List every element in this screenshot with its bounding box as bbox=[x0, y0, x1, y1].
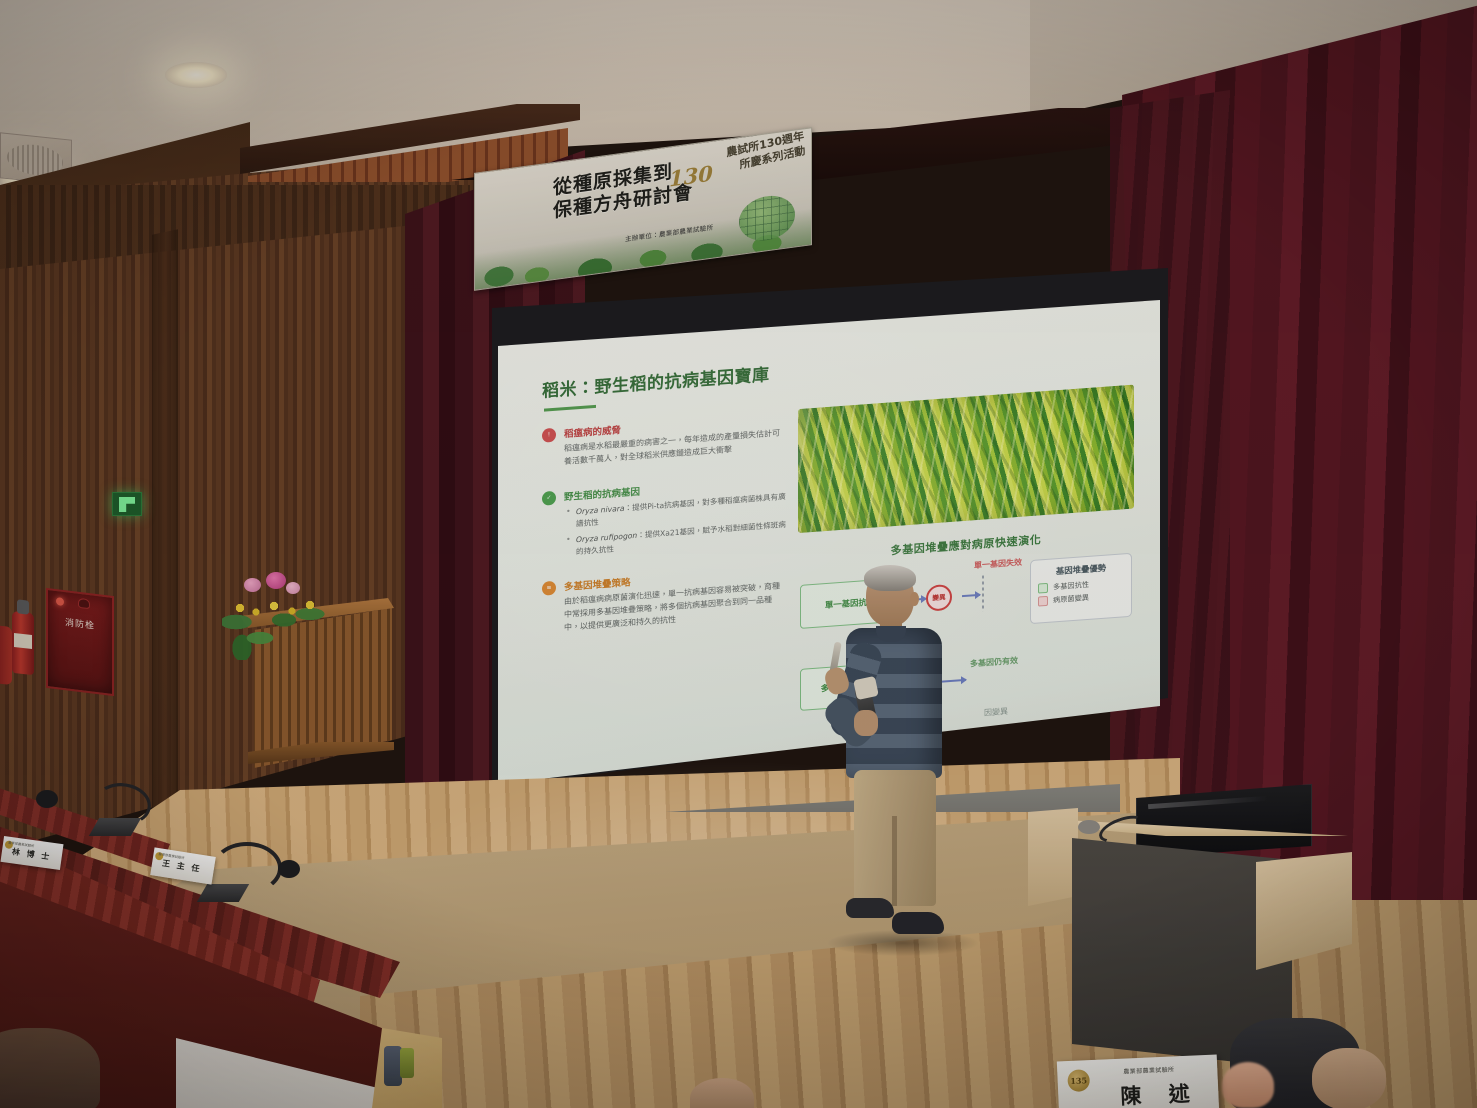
ceiling-downlight bbox=[165, 62, 227, 88]
microphone-capsule bbox=[278, 860, 300, 878]
slide-section-threat: ! 稻瘟病的威脅 稻瘟病是水稻最嚴重的病害之一，每年造成的產量損失估計可養活數千… bbox=[542, 410, 786, 471]
nameplate-name: 陳 述 bbox=[1120, 1077, 1201, 1108]
flower-arrangement bbox=[222, 570, 334, 660]
placard-name: 林 博 士 bbox=[11, 846, 52, 862]
console-side-panel bbox=[1028, 808, 1078, 906]
poster-graphic bbox=[400, 1048, 414, 1078]
speaker-trousers bbox=[854, 770, 936, 906]
fire-hydrant-cabinet[interactable]: 消防栓 bbox=[46, 588, 114, 696]
yellow-flowers bbox=[230, 596, 330, 622]
arrow-icon bbox=[962, 594, 980, 597]
legend-label: 病原菌變異 bbox=[1053, 593, 1089, 606]
diagram-legend: 基因堆疊優勢 多基因抗性 病原菌變異 bbox=[1030, 553, 1132, 624]
rice-field-photo bbox=[798, 385, 1134, 534]
speaker-ear bbox=[910, 592, 919, 606]
auditorium-scene: 130 從種原採集到 保種方舟研討會 農試所130週年 所慶系列活動 主辦單位：… bbox=[0, 0, 1477, 1108]
agency-logo-icon: 135 bbox=[1067, 1069, 1090, 1092]
species-bullet-list: Oryza nivara：提供Pi-ta抗病基因，對多種稻瘟病菌株具有廣譜抗性 … bbox=[564, 491, 786, 560]
hydrant-label: 消防栓 bbox=[48, 616, 112, 635]
speaker-hair bbox=[864, 565, 916, 591]
speaker-shoe bbox=[892, 912, 944, 934]
legend-swatch-pink bbox=[1038, 596, 1048, 607]
microphone-capsule bbox=[36, 790, 58, 808]
label-mutation-tail: 因變異 bbox=[984, 706, 1008, 719]
species-name: Oryza nivara bbox=[576, 504, 625, 517]
species-name: Oryza rufipogon bbox=[576, 531, 637, 544]
title-underline bbox=[544, 405, 596, 412]
legend-item: 病原菌變異 bbox=[1038, 590, 1124, 606]
legend-swatch-green bbox=[1038, 583, 1048, 594]
pink-flower bbox=[286, 582, 300, 594]
slide-section-stacking-strategy: ≡ 多基因堆疊策略 由於稻瘟病病原菌演化迅速，單一抗病基因容易被突破，育種中常採… bbox=[542, 563, 786, 637]
dashed-barrier bbox=[982, 576, 984, 612]
fire-extinguisher bbox=[0, 625, 12, 685]
slide-section-resistance-genes: ✓ 野生稻的抗病基因 Oryza nivara：提供Pi-ta抗病基因，對多種稻… bbox=[542, 473, 786, 561]
fire-extinguisher bbox=[12, 611, 34, 675]
audience-chair bbox=[0, 1028, 100, 1108]
slide-left-column: ! 稻瘟病的威脅 稻瘟病是水稻最嚴重的病害之一，每年造成的產量損失估計可養活數千… bbox=[542, 410, 786, 748]
alarm-bell-icon bbox=[78, 598, 90, 609]
shield-icon: ✓ bbox=[542, 491, 556, 506]
audience-head bbox=[1312, 1048, 1386, 1108]
legend-label: 多基因抗性 bbox=[1053, 580, 1089, 593]
layers-icon: ≡ bbox=[542, 581, 556, 596]
nameplate-foliage-art bbox=[1062, 1097, 1117, 1108]
legend-title: 基因堆疊優勢 bbox=[1038, 560, 1124, 578]
warning-icon: ! bbox=[542, 428, 556, 443]
placard-name: 王 主 任 bbox=[161, 858, 202, 875]
exit-sign-icon bbox=[112, 492, 142, 516]
speaker-shoe bbox=[846, 898, 894, 918]
presenter-person bbox=[836, 568, 956, 948]
gooseneck-microphone[interactable] bbox=[212, 842, 282, 894]
label-multi-gene-effective: 多基因仍有效 bbox=[970, 655, 1018, 670]
audience-hand bbox=[1222, 1062, 1274, 1108]
label-single-gene-fails: 單一基因失效 bbox=[974, 557, 1022, 572]
pink-flower bbox=[244, 578, 261, 592]
console-knob[interactable] bbox=[1078, 820, 1100, 834]
pink-flower bbox=[266, 572, 286, 589]
nameplate-organization: 農業部農業試驗所 bbox=[1123, 1064, 1175, 1075]
speaker-nameplate: 135 農業部農業試驗所 陳 述 bbox=[1057, 1055, 1219, 1108]
speaker-hand-right bbox=[854, 710, 878, 736]
alarm-lamp-icon bbox=[56, 597, 64, 606]
